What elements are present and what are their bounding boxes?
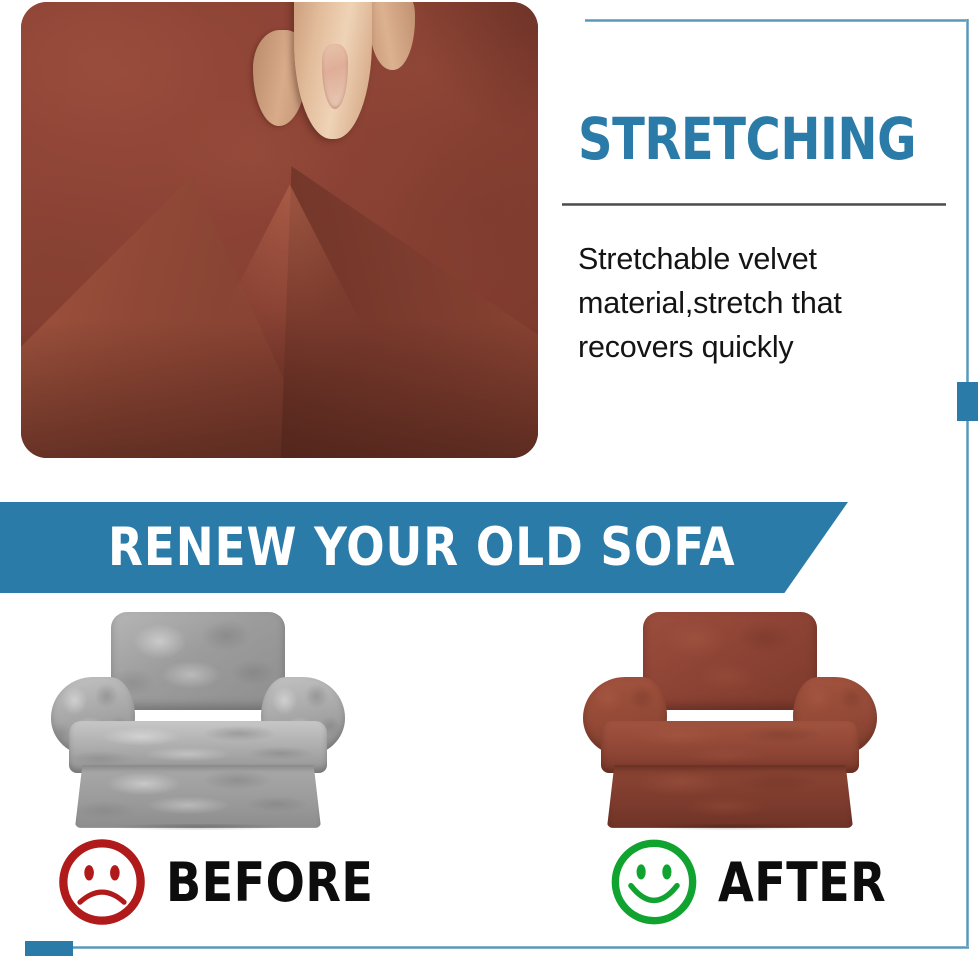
before-label: BEFORE [166, 851, 373, 914]
after-label: AFTER [718, 851, 886, 914]
smiley-face-icon [608, 836, 700, 928]
after-verdict: AFTER [608, 836, 895, 928]
hand-icon [264, 2, 398, 139]
before-chair-image [48, 612, 348, 830]
chair-shadow [616, 824, 844, 830]
fabric-bottom-shadow [21, 321, 538, 458]
top-accent-line [585, 19, 969, 22]
after-chair-image [580, 612, 880, 830]
renew-banner: RENEW YOUR OLD SOFA [0, 502, 848, 593]
chair-backrest [643, 612, 817, 710]
thumb [294, 2, 372, 139]
heading-divider [562, 203, 946, 206]
chair-skirt [607, 765, 853, 828]
fingernail [322, 44, 349, 110]
bottom-accent-block [25, 941, 73, 956]
bottom-accent-line [60, 946, 969, 949]
banner-title: RENEW YOUR OLD SOFA [108, 517, 736, 578]
right-accent-block [957, 382, 978, 421]
feature-text-panel: STRETCHING [578, 110, 958, 169]
chair-shadow [84, 824, 312, 830]
feature-heading: STRETCHING [578, 110, 928, 169]
right-accent-line [966, 19, 969, 949]
sad-face-icon [56, 836, 148, 928]
chair-skirt [75, 765, 321, 828]
before-verdict: BEFORE [56, 836, 384, 928]
chair-backrest [111, 612, 285, 710]
fabric-stretch-photo [21, 2, 538, 458]
feature-body-text: Stretchable velvet material,stretch that… [578, 237, 938, 369]
